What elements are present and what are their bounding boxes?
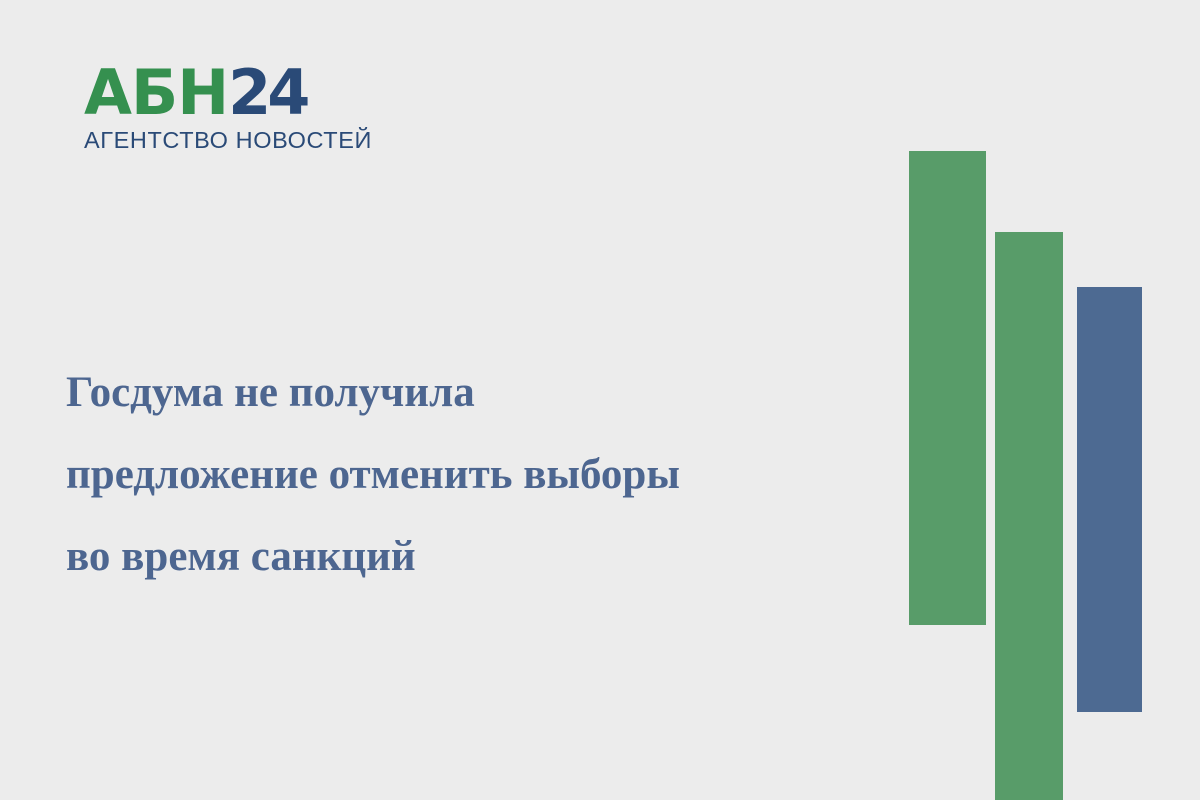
news-card: АБН24 АГЕНТСТВО НОВОСТЕЙ Госдума не полу… [0, 0, 1200, 800]
headline-line-3: во время санкций [66, 516, 876, 598]
logo-text-abn: АБН [84, 56, 228, 129]
logo-text-24: 24 [228, 56, 306, 129]
logo-tagline: АГЕНТСТВО НОВОСТЕЙ [84, 127, 369, 154]
abn24-logo[interactable]: АБН24 АГЕНТСТВО НОВОСТЕЙ [84, 64, 369, 154]
logo-wordmark: АБН24 [84, 64, 369, 121]
headline-line-2: предложение отменить выборы [66, 434, 876, 516]
decorative-bar-short-slate [1077, 287, 1142, 712]
decorative-bar-mid-green [995, 232, 1063, 800]
headline-line-1: Госдума не получила [66, 352, 876, 434]
headline: Госдума не получила предложение отменить… [66, 352, 876, 598]
decorative-bar-tall-green [909, 151, 986, 625]
